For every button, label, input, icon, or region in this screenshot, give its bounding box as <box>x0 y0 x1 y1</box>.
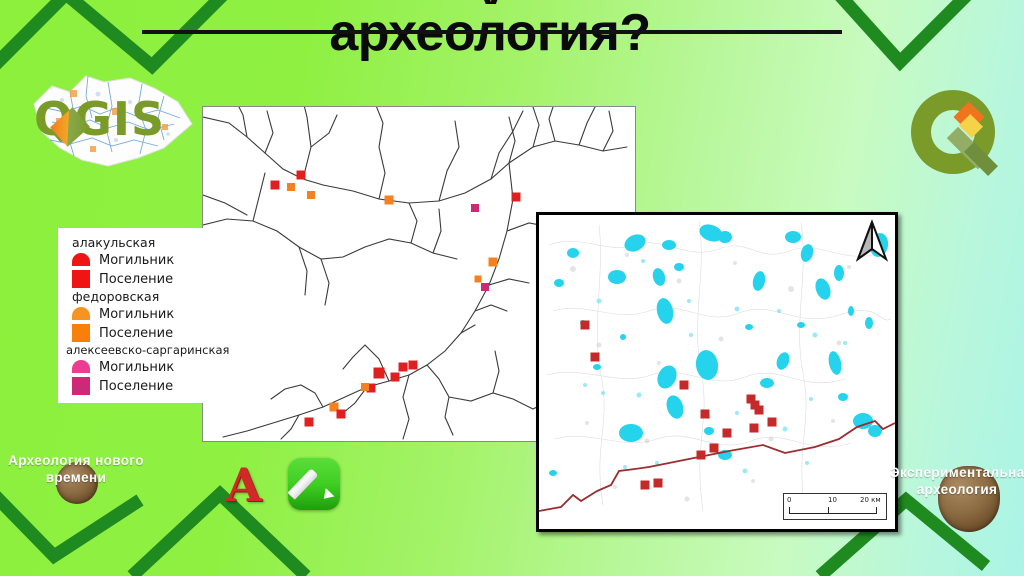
site-marker[interactable] <box>399 363 408 372</box>
site-marker[interactable] <box>755 406 764 415</box>
site-marker[interactable] <box>768 418 777 427</box>
map-scalebar: 0 10 20 км <box>783 493 887 520</box>
scalebar-tick-0: 0 <box>787 496 791 504</box>
title-underline <box>142 30 842 34</box>
legend-label: Поселение <box>99 272 173 287</box>
label-experimental-archaeology: Экспериментальная археология <box>890 464 1024 498</box>
site-marker[interactable] <box>385 196 394 205</box>
pencil-body <box>288 468 319 499</box>
site-marker[interactable] <box>271 181 280 190</box>
site-marker[interactable] <box>305 418 314 427</box>
qgis-q-logo-icon <box>900 82 1006 186</box>
north-arrow-icon <box>855 219 889 263</box>
site-marker[interactable] <box>641 481 650 490</box>
legend-label: Могильник <box>99 307 174 322</box>
legend-swatch-dome <box>72 360 90 373</box>
qgis-wordmark-text: QGIS <box>34 92 165 146</box>
legend-row: Могильник <box>66 358 229 376</box>
site-marker[interactable] <box>307 191 315 199</box>
legend-label: Могильник <box>99 253 174 268</box>
site-marker[interactable] <box>297 171 306 180</box>
legend-swatch-square <box>72 377 90 395</box>
autocad-a-icon[interactable]: A <box>226 458 262 512</box>
legend-label: Поселение <box>99 326 173 341</box>
site-marker[interactable] <box>750 424 759 433</box>
site-marker[interactable] <box>581 321 590 330</box>
legend-row: Поселение <box>66 324 229 342</box>
site-marker[interactable] <box>701 410 710 419</box>
pencil-tip <box>320 488 335 503</box>
legend-label: Поселение <box>99 379 173 394</box>
site-marker[interactable] <box>654 479 663 488</box>
site-marker[interactable] <box>723 429 732 438</box>
legend-row: Могильник <box>66 251 229 269</box>
site-marker[interactable] <box>489 258 498 267</box>
site-marker[interactable] <box>481 283 489 291</box>
site-marker[interactable] <box>337 410 346 419</box>
legend-row: Могильник <box>66 305 229 323</box>
scalebar-tick-1: 10 <box>828 496 837 504</box>
label-modern-archaeology: Археология нового времени <box>6 452 146 486</box>
site-marker[interactable] <box>512 193 521 202</box>
site-marker[interactable] <box>409 361 418 370</box>
legend-swatch-square <box>72 324 90 342</box>
legend-row: Поселение <box>66 270 229 288</box>
scalebar-midtick <box>828 507 829 514</box>
legend-group-header: алексеевско-саргаринская <box>66 343 229 357</box>
legend-swatch-square <box>72 270 90 288</box>
site-marker[interactable] <box>475 276 482 283</box>
site-marker[interactable] <box>391 373 400 382</box>
scalebar-bar <box>789 507 877 514</box>
raster-analysis-map[interactable]: 0 10 20 км <box>536 212 898 532</box>
scalebar-tick-2: 20 км <box>860 496 881 504</box>
presentation-slide: у археология? <box>0 0 1024 576</box>
site-marker[interactable] <box>471 204 479 212</box>
site-marker[interactable] <box>680 381 689 390</box>
site-marker[interactable] <box>361 383 369 391</box>
site-marker[interactable] <box>287 183 295 191</box>
legend-row: Поселение <box>66 377 229 395</box>
legend-group-header: алакульская <box>72 235 229 250</box>
legend-group-header: федоровская <box>72 289 229 304</box>
site-marker[interactable] <box>710 444 719 453</box>
pencil-notes-icon[interactable] <box>288 458 340 510</box>
site-marker[interactable] <box>374 368 385 379</box>
legend-label: Могильник <box>99 360 174 375</box>
site-marker[interactable] <box>591 353 600 362</box>
legend-swatch-dome <box>72 253 90 266</box>
map-legend: алакульскаяМогильникПоселениефедоровская… <box>58 228 239 403</box>
slide-title-block: у археология? <box>140 0 840 62</box>
site-marker[interactable] <box>697 451 706 460</box>
qgis-wordmark-logo: QGIS <box>12 62 202 172</box>
legend-swatch-dome <box>72 307 90 320</box>
